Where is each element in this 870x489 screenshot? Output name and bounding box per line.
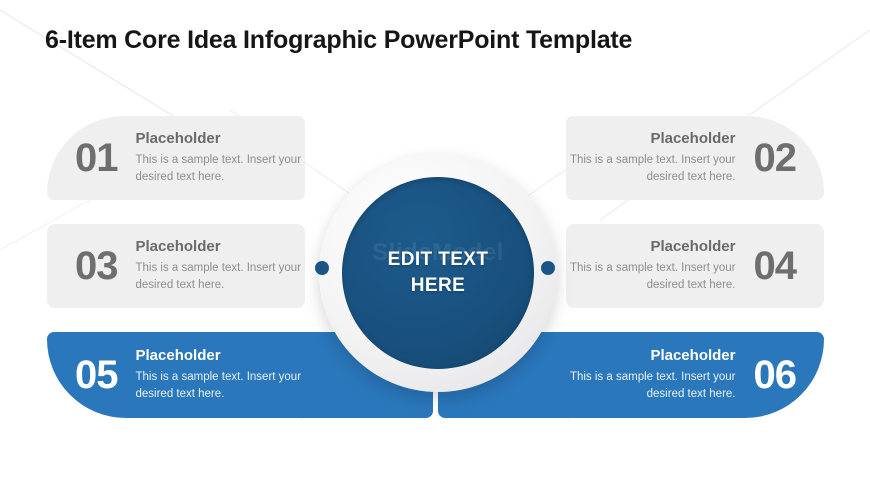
infographic-slide: 6-Item Core Idea Infographic PowerPoint … — [0, 0, 870, 489]
page-title: 6-Item Core Idea Infographic PowerPoint … — [45, 26, 632, 55]
connector-dot-left — [315, 261, 329, 275]
item-heading-02: Placeholder — [566, 130, 736, 148]
item-card-03[interactable]: 03 Placeholder This is a sample text. In… — [47, 224, 305, 308]
item-card-02[interactable]: 02 Placeholder This is a sample text. In… — [566, 116, 824, 200]
item-heading-06: Placeholder — [566, 347, 736, 365]
center-circle[interactable]: SlideModel EDIT TEXT HERE — [319, 154, 557, 392]
item-body-01: This is a sample text. Insert your desir… — [136, 152, 306, 185]
item-heading-04: Placeholder — [566, 238, 736, 256]
item-body-03: This is a sample text. Insert your desir… — [136, 260, 306, 293]
item-number-01: 01 — [75, 138, 118, 178]
center-label: EDIT TEXT HERE — [388, 247, 489, 298]
item-heading-01: Placeholder — [136, 130, 306, 148]
item-body-02: This is a sample text. Insert your desir… — [566, 152, 736, 185]
item-heading-03: Placeholder — [136, 238, 306, 256]
item-number-02: 02 — [754, 138, 797, 178]
item-number-04: 04 — [754, 246, 797, 286]
item-number-05: 05 — [75, 355, 118, 395]
item-body-04: This is a sample text. Insert your desir… — [566, 260, 736, 293]
center-inner-disc[interactable]: SlideModel EDIT TEXT HERE — [342, 177, 534, 369]
connector-dot-right — [541, 261, 555, 275]
center-label-line1: EDIT TEXT — [388, 249, 489, 270]
item-number-03: 03 — [75, 246, 118, 286]
item-body-06: This is a sample text. Insert your desir… — [566, 369, 736, 402]
item-heading-05: Placeholder — [136, 347, 306, 365]
item-number-06: 06 — [754, 355, 797, 395]
item-card-04[interactable]: 04 Placeholder This is a sample text. In… — [566, 224, 824, 308]
center-label-line2: HERE — [411, 275, 465, 296]
item-card-01[interactable]: 01 Placeholder This is a sample text. In… — [47, 116, 305, 200]
item-body-05: This is a sample text. Insert your desir… — [136, 369, 306, 402]
